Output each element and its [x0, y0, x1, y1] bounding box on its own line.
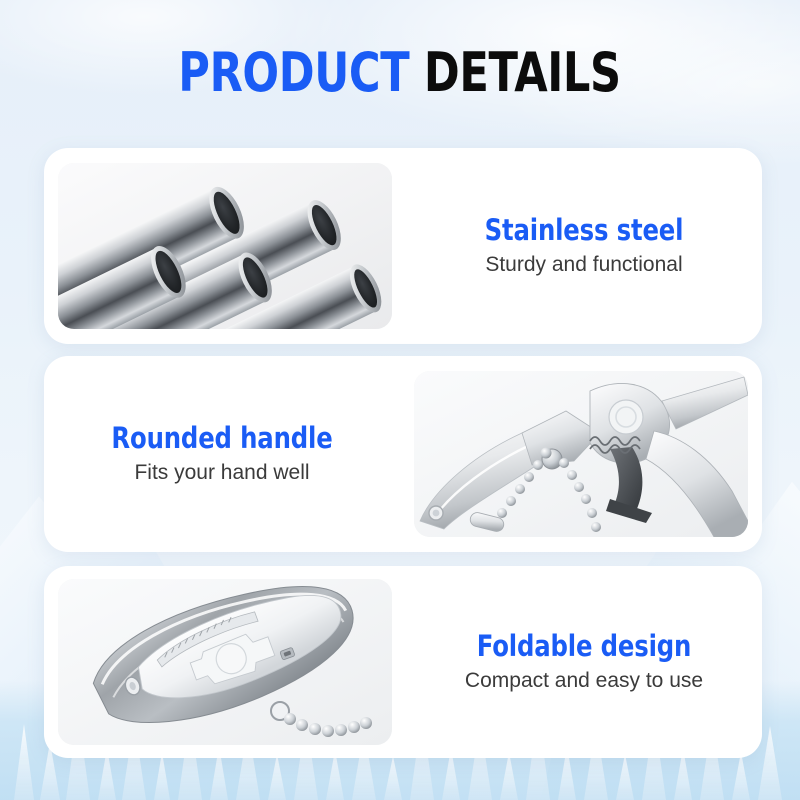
feature-subtext: Sturdy and functional: [416, 252, 752, 278]
feature-card-stainless-steel[interactable]: Stainless steel Sturdy and functional: [44, 148, 762, 344]
feature-card-rounded-handle[interactable]: Rounded handle Fits your hand well: [44, 356, 762, 552]
feature-copy-foldable-design: Foldable design Compact and easy to use: [406, 630, 762, 694]
feature-card-foldable-design[interactable]: Foldable design Compact and easy to use: [44, 566, 762, 758]
page-title-accent: PRODUCT: [179, 41, 410, 104]
stainless-steel-tubes-photo: [58, 163, 392, 329]
feature-subtext: Fits your hand well: [54, 460, 390, 486]
feature-copy-stainless-steel: Stainless steel Sturdy and functional: [406, 214, 762, 278]
page-title: PRODUCT DETAILS: [179, 44, 621, 102]
feature-copy-rounded-handle: Rounded handle Fits your hand well: [44, 422, 400, 486]
feature-heading: Foldable design: [443, 630, 725, 662]
multitool-folded-photo: [58, 579, 392, 745]
page-title-main-text: DETAILS: [424, 41, 621, 104]
feature-heading: Stainless steel: [443, 214, 725, 246]
feature-heading: Rounded handle: [81, 422, 363, 454]
multitool-pliers-open-photo: [414, 371, 748, 537]
product-details-page: PRODUCT DETAILS: [0, 0, 800, 800]
page-header: PRODUCT DETAILS: [0, 44, 800, 102]
feature-subtext: Compact and easy to use: [416, 668, 752, 694]
page-title-main: [410, 41, 425, 104]
